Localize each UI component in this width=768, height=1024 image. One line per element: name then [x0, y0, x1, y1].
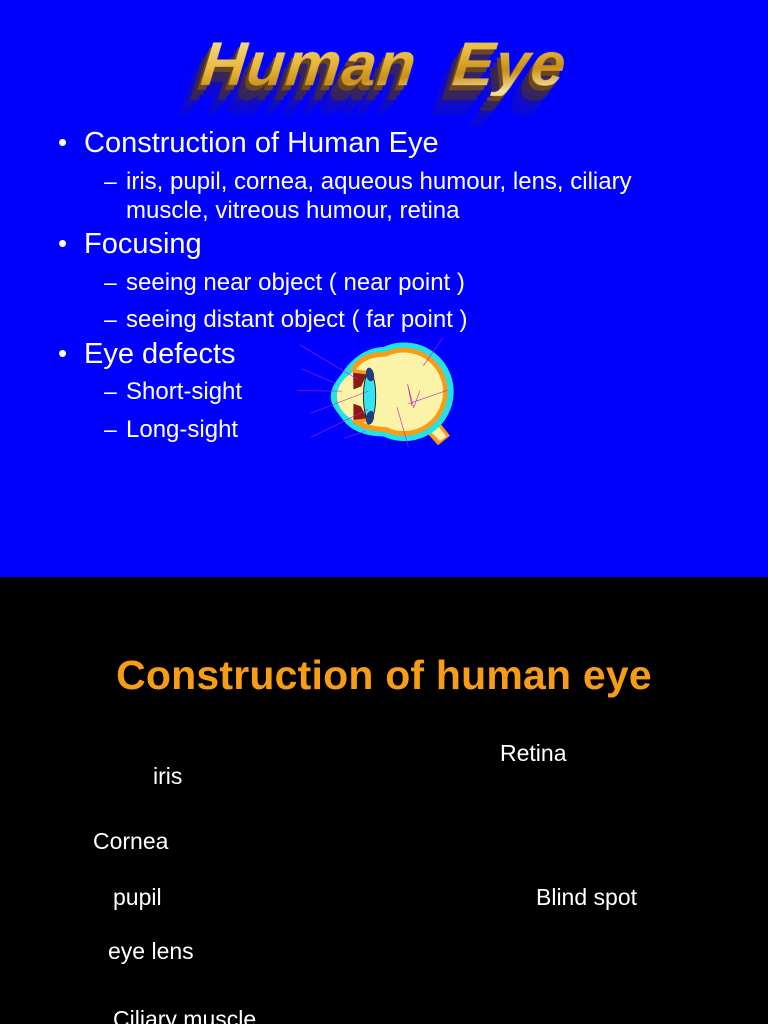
diagram-label-ciliary-muscle: Ciliary muscle	[113, 1008, 256, 1024]
sub-bullet-item-long-sight: – Long-sight	[104, 415, 758, 444]
bullet-group: • Construction of Human Eye – iris, pupi…	[58, 128, 758, 225]
sub-bullet-label: Long-sight	[126, 415, 696, 444]
page-title: Human Eye	[0, 34, 768, 96]
bullet-group: • Focusing – seeing near object ( near p…	[58, 229, 758, 334]
sub-bullet-label: iris, pupil, cornea, aqueous humour, len…	[126, 167, 696, 226]
diagram-label-retina: Retina	[500, 742, 566, 765]
sub-bullet-item-near-point: – seeing near object ( near point )	[104, 268, 758, 297]
sub-bullet-label: Short-sight	[126, 377, 696, 406]
sub-bullet-label: seeing distant object ( far point )	[126, 305, 696, 334]
bullet-marker-icon: •	[58, 229, 84, 258]
bullet-item-eye-defects: • Eye defects	[58, 339, 758, 370]
sub-bullet-marker-icon: –	[104, 377, 126, 405]
sub-bullet-marker-icon: –	[104, 268, 126, 296]
sub-bullet-marker-icon: –	[104, 305, 126, 333]
sub-bullet-item-anatomy-terms: – iris, pupil, cornea, aqueous humour, l…	[104, 167, 758, 226]
bullet-item-construction: • Construction of Human Eye	[58, 128, 758, 159]
bullet-list: • Construction of Human Eye – iris, pupi…	[58, 128, 758, 448]
sub-bullet-item-far-point: – seeing distant object ( far point )	[104, 305, 758, 334]
sub-bullet-item-short-sight: – Short-sight	[104, 377, 758, 406]
bullet-label: Construction of Human Eye	[84, 128, 758, 159]
sub-bullet-label: seeing near object ( near point )	[126, 268, 696, 297]
diagram-label-blind-spot: Blind spot	[536, 886, 637, 909]
bullet-label: Focusing	[84, 229, 758, 260]
bullet-group: • Eye defects – Short-sight – Long-sight	[58, 339, 758, 444]
slide-title-overview: Human Eye • Construction of Human Eye – …	[0, 0, 768, 577]
bullet-item-focusing: • Focusing	[58, 229, 758, 260]
diagram-label-eye-lens: eye lens	[108, 940, 194, 963]
slide-deck-page: Human Eye • Construction of Human Eye – …	[0, 0, 768, 1024]
bullet-marker-icon: •	[58, 339, 84, 368]
diagram-label-pupil: pupil	[113, 886, 162, 909]
sub-bullet-marker-icon: –	[104, 167, 126, 195]
sub-bullet-marker-icon: –	[104, 415, 126, 443]
bullet-marker-icon: •	[58, 128, 84, 157]
diagram-label-cornea: Cornea	[93, 830, 168, 853]
bullet-label: Eye defects	[84, 339, 758, 370]
diagram-title: Construction of human eye	[0, 655, 768, 696]
diagram-label-iris: iris	[153, 765, 182, 788]
